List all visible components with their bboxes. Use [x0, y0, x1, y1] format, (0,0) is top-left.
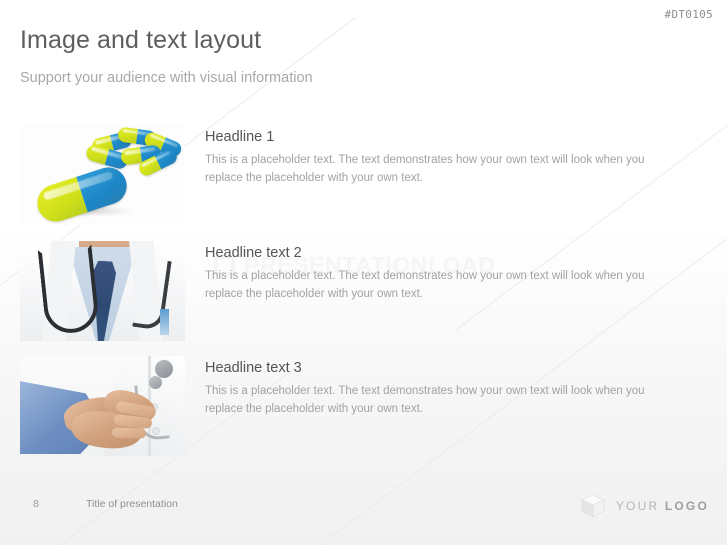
page-subtitle: Support your audience with visual inform… — [20, 70, 313, 86]
row-text-block: Headline text 2 This is a placeholder te… — [205, 241, 685, 304]
row-headline: Headline 1 — [205, 129, 685, 145]
stethoscope-chestpiece-icon — [155, 360, 173, 378]
row-body-text: This is a placeholder text. The text dem… — [205, 152, 683, 188]
footer-presentation-title: Title of presentation — [86, 498, 178, 510]
logo-text: YOUR LOGO — [616, 499, 709, 513]
row-text-block: Headline 1 This is a placeholder text. T… — [205, 125, 685, 188]
content-row: Headline 1 This is a placeholder text. T… — [0, 125, 727, 225]
content-row: Headline text 3 This is a placeholder te… — [0, 356, 727, 456]
id-badge-clip — [160, 309, 169, 335]
presentation-slide: #DT0105 Image and text layout Support yo… — [0, 0, 727, 545]
content-row: Headline text 2 This is a placeholder te… — [0, 241, 727, 341]
template-code: #DT0105 — [665, 8, 713, 21]
logo-text-bold: LOGO — [665, 499, 709, 513]
page-number: 8 — [33, 498, 39, 510]
page-title: Image and text layout — [20, 26, 261, 55]
logo-text-light: YOUR — [616, 499, 665, 513]
photo-doctor-with-stethoscope — [20, 241, 185, 341]
row-body-text: This is a placeholder text. The text dem… — [205, 383, 683, 419]
coat-button — [153, 428, 159, 434]
row-headline: Headline text 3 — [205, 360, 685, 376]
photo-doctor-holding-patient-hands — [20, 356, 185, 456]
finger-shape — [112, 427, 146, 438]
cube-logo-icon — [580, 493, 606, 519]
logo: YOUR LOGO — [580, 493, 709, 519]
photo-blue-yellow-capsules — [20, 125, 185, 225]
row-text-block: Headline text 3 This is a placeholder te… — [205, 356, 685, 419]
row-body-text: This is a placeholder text. The text dem… — [205, 268, 683, 304]
row-headline: Headline text 2 — [205, 245, 685, 261]
